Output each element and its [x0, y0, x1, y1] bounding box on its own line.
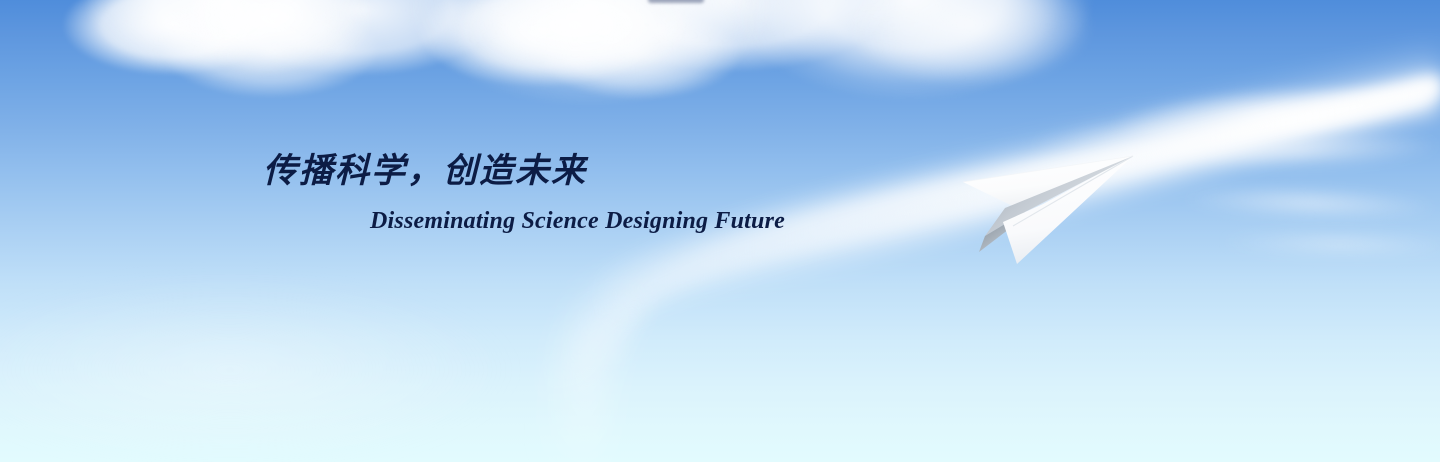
paper-plane-icon: [955, 140, 1155, 280]
cirrus-cloud-4: [1189, 211, 1440, 276]
cloud-band-top: [0, 0, 1000, 150]
clipped-text-mark: [648, 0, 704, 3]
haze-lower-left: [0, 250, 580, 462]
cirrus-cloud-3: [1149, 162, 1440, 243]
headline-chinese: 传播科学，创造未来: [263, 152, 587, 191]
cirrus-cloud-2: [1119, 104, 1440, 197]
headline-english: Disseminating Science Designing Future: [370, 208, 785, 236]
banner: 传播科学，创造未来 Disseminating Science Designin…: [0, 0, 1440, 462]
